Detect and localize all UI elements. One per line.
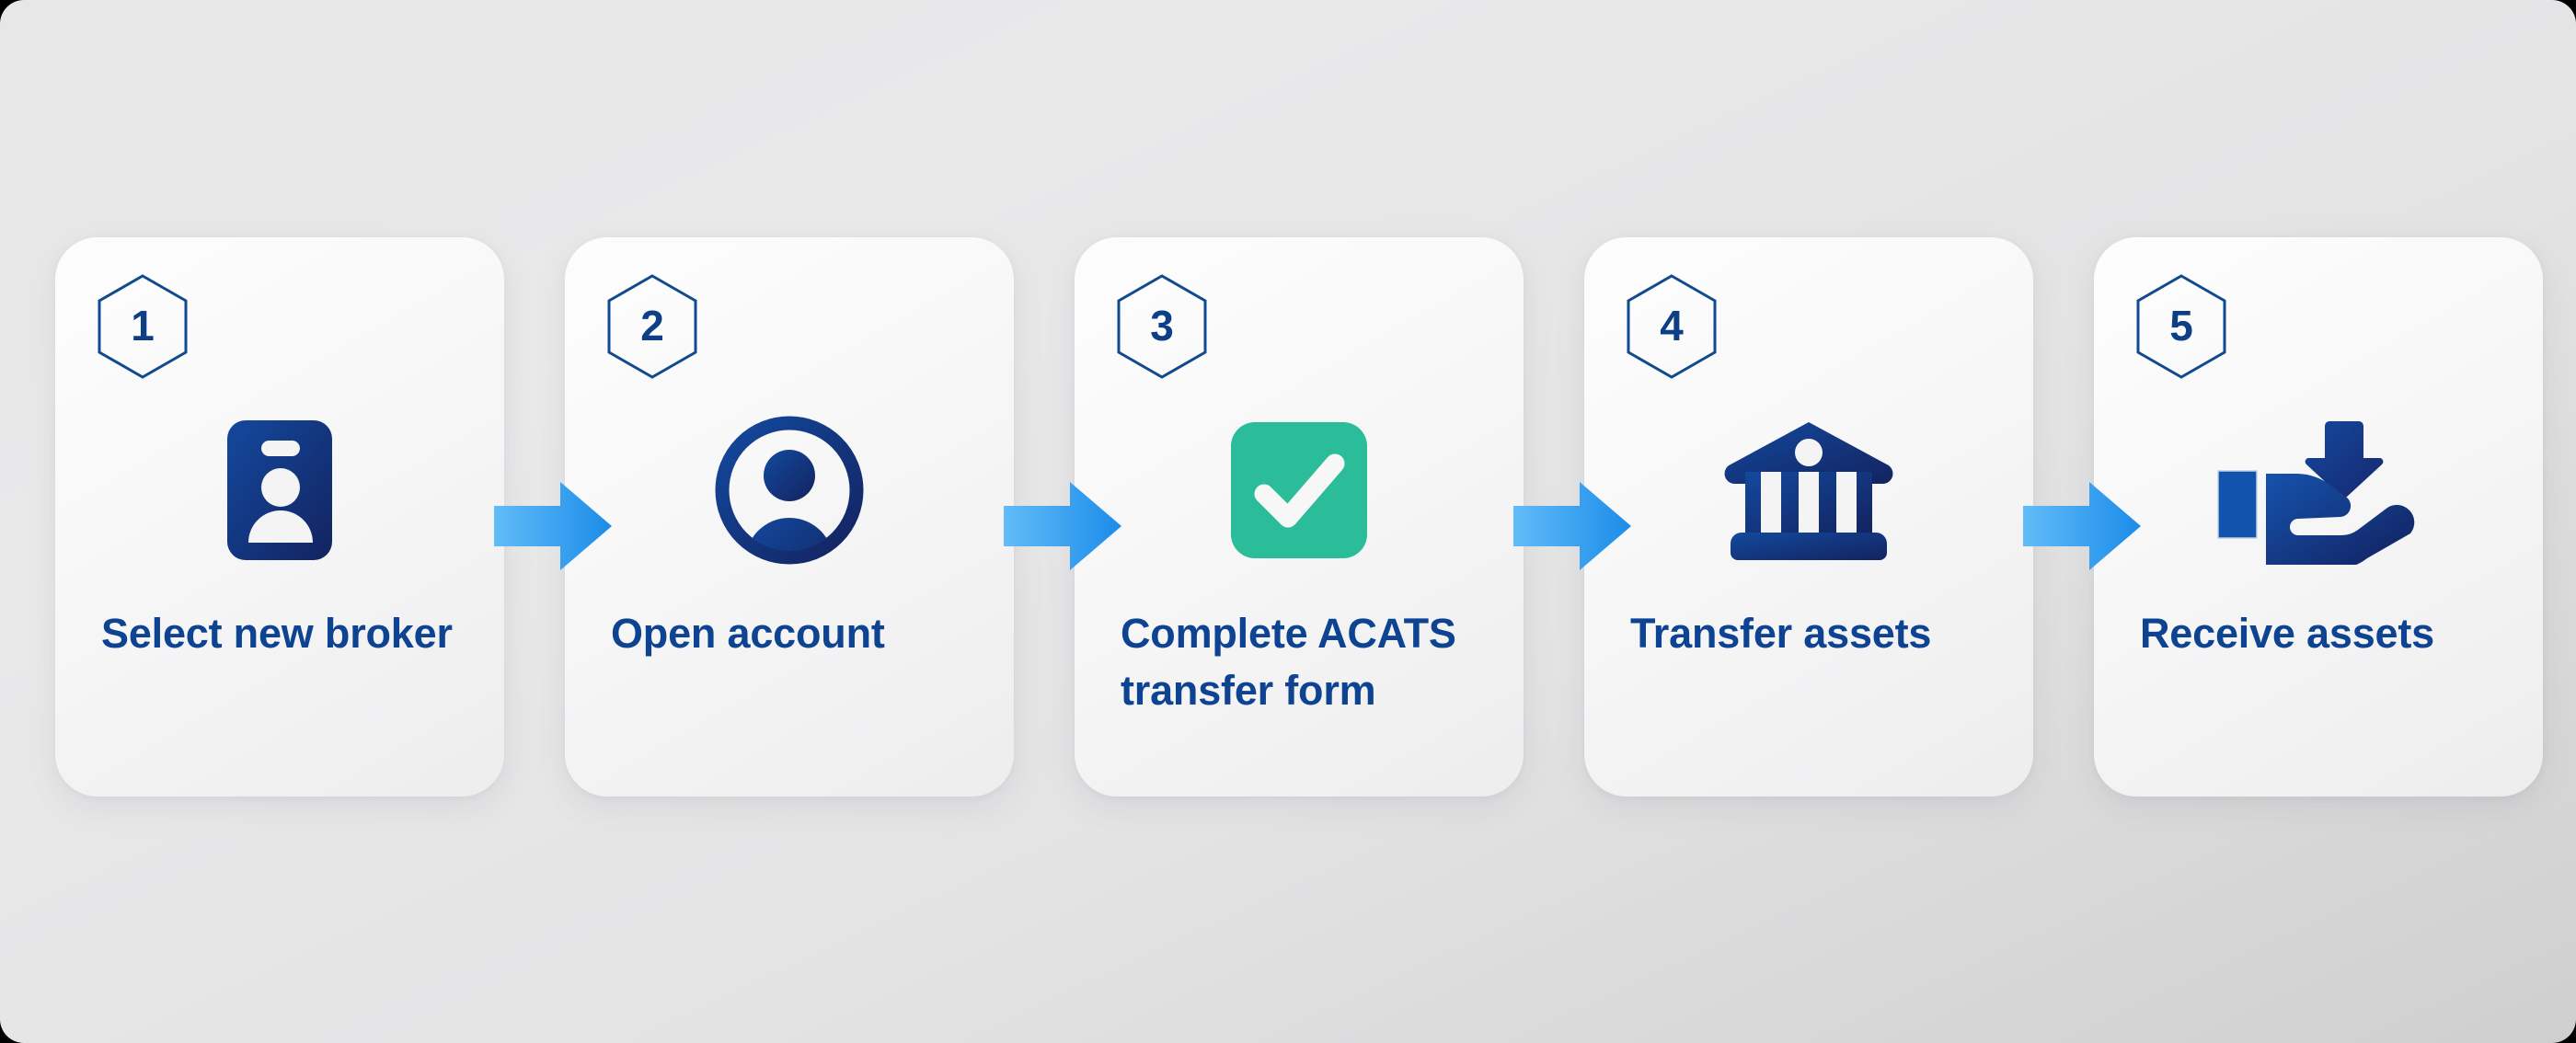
id-card-icon (220, 417, 339, 564)
green-checkmark-icon (1224, 415, 1374, 566)
bank-icon (1723, 418, 1894, 562)
infographic-canvas: 1 Select new broker (0, 0, 2576, 1043)
step-number-badge-1: 1 (95, 273, 190, 380)
connector-arrow-3 (1513, 482, 1631, 570)
arrow-right-icon (494, 482, 612, 570)
step-number-3: 3 (1114, 273, 1210, 380)
step-label-1: Select new broker (101, 605, 488, 662)
step-label-2: Open account (611, 605, 997, 662)
step-card-1[interactable]: 1 Select new broker (55, 237, 504, 797)
step-label-3: Complete ACATS transfer form (1121, 605, 1507, 719)
connector-arrow-1 (494, 482, 612, 570)
step-number-badge-4: 4 (1624, 273, 1719, 380)
step-card-4[interactable]: 4 (1584, 237, 2033, 797)
step-number-4: 4 (1624, 273, 1719, 380)
arrow-right-icon (1004, 482, 1121, 570)
step-label-5: Receive assets (2140, 605, 2526, 662)
step-label-4: Transfer assets (1630, 605, 2017, 662)
step-number-badge-5: 5 (2133, 273, 2229, 380)
arrow-right-icon (1513, 482, 1631, 570)
step-icon-3 (1075, 398, 1524, 582)
step-icon-1 (55, 398, 504, 582)
step-icon-4 (1584, 398, 2033, 582)
step-icon-2 (565, 398, 1014, 582)
connector-arrow-2 (1004, 482, 1121, 570)
connector-arrow-4 (2023, 482, 2141, 570)
step-number-2: 2 (604, 273, 700, 380)
step-icon-5 (2094, 398, 2543, 582)
step-number-badge-3: 3 (1114, 273, 1210, 380)
step-card-3[interactable]: 3 Complete ACATS transfer form (1075, 237, 1524, 797)
step-card-5[interactable]: 5 (2094, 237, 2543, 797)
step-number-badge-2: 2 (604, 273, 700, 380)
step-number-1: 1 (95, 273, 190, 380)
process-flow: 1 Select new broker (0, 237, 2576, 808)
step-card-2[interactable]: 2 (565, 237, 1014, 797)
hand-receive-icon (2213, 416, 2424, 565)
step-number-5: 5 (2133, 273, 2229, 380)
user-circle-icon (714, 415, 865, 566)
arrow-right-icon (2023, 482, 2141, 570)
